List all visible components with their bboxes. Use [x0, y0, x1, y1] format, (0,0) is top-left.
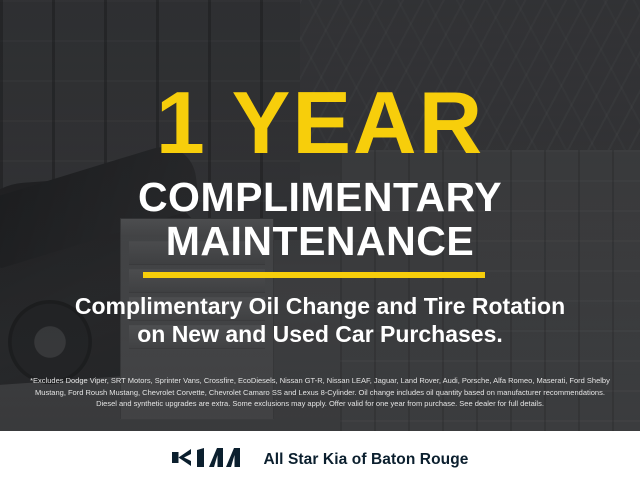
headline-year: 1 YEAR: [0, 79, 640, 167]
dealer-name: All Star Kia of Baton Rouge: [263, 451, 468, 469]
hero-content: 1 YEAR COMPLIMENTARY MAINTENANCE Complim…: [0, 0, 640, 431]
hero-section: 1 YEAR COMPLIMENTARY MAINTENANCE Complim…: [0, 0, 640, 431]
subheading-line-1: Complimentary Oil Change and Tire Rotati…: [0, 292, 640, 320]
disclaimer-line: Diesel and synthetic upgrades are extra.…: [14, 398, 626, 410]
disclaimer-text: *Excludes Dodge Viper, SRT Motors, Sprin…: [14, 375, 626, 410]
kia-logo: [171, 447, 245, 473]
disclaimer-line: Mustang, Ford Roush Mustang, Chevrolet C…: [14, 387, 626, 399]
disclaimer-line: *Excludes Dodge Viper, SRT Motors, Sprin…: [14, 375, 626, 387]
headline-maintenance: MAINTENANCE: [0, 219, 640, 263]
subheading-line-2: on New and Used Car Purchases.: [0, 320, 640, 348]
footer-bar: All Star Kia of Baton Rouge: [0, 431, 640, 488]
promotional-banner: 1 YEAR COMPLIMENTARY MAINTENANCE Complim…: [0, 0, 640, 488]
yellow-divider-bar: [143, 272, 485, 278]
headline-complimentary: COMPLIMENTARY: [0, 175, 640, 219]
